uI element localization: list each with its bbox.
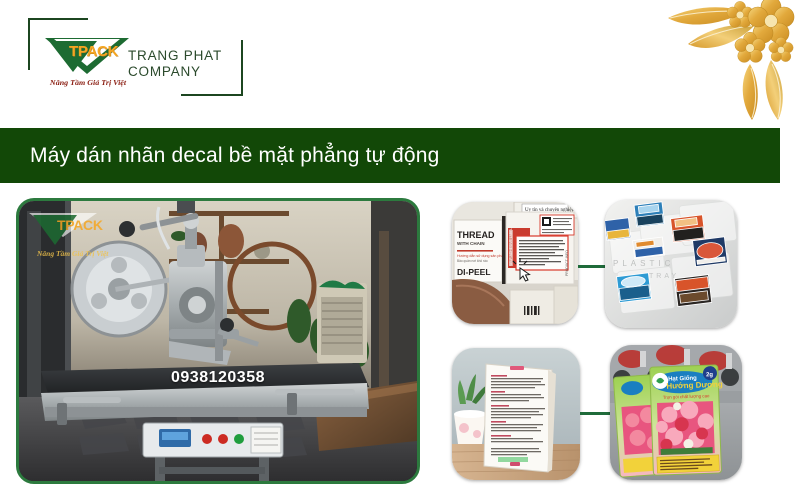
frame-line-right xyxy=(241,40,243,96)
svg-text:2g: 2g xyxy=(706,372,714,378)
page-title-bar: Máy dán nhãn decal bề mặt phẳng tự động xyxy=(0,128,780,183)
connector-line-top xyxy=(578,265,608,268)
gold-apricot-blossom-corner-icon xyxy=(640,0,800,120)
application-photo-seed-packets[interactable]: Hạt Giống Hướng Dương Trọn gói chất lượn… xyxy=(610,345,742,480)
connector-line-bottom xyxy=(580,412,612,415)
svg-text:SELF-ADHESIVE LABEL: SELF-ADHESIVE LABEL xyxy=(509,228,513,266)
page-header: TPACK Nâng Tầm Giá Trị Việt TRANG PHAT C… xyxy=(0,0,800,125)
frame-line-top xyxy=(28,18,88,20)
svg-text:WITH CHAIN: WITH CHAIN xyxy=(457,241,485,246)
svg-text:Hướng dẫn sử dụng sản phẩm: Hướng dẫn sử dụng sản phẩm xyxy=(457,253,506,258)
company-name-line1: TRANG PHAT xyxy=(128,48,222,64)
application-photo-box-with-red-label[interactable]: Uy tín và chuyên nghiệp THREAD WITH CHAI… xyxy=(452,202,578,324)
logo-tagline: Nâng Tầm Giá Trị Việt xyxy=(47,78,129,86)
photo-watermark-logo: TPACK Nâng Tầm Giá Trị Việt xyxy=(33,213,113,261)
frame-line-bottom xyxy=(181,94,243,96)
application-photo-carton-instruction-label[interactable] xyxy=(452,348,580,480)
photo-watermark-wordmark: TPACK xyxy=(57,217,103,233)
frame-line-left xyxy=(28,18,30,70)
main-product-photo[interactable]: TPACK Nâng Tầm Giá Trị Việt 0938120358 xyxy=(16,198,420,484)
company-name: TRANG PHAT COMPANY xyxy=(128,48,222,80)
photo-phone-number: 0938120358 xyxy=(19,369,417,387)
photo-watermark-tagline: Nâng Tầm Giá Trị Việt xyxy=(37,249,108,258)
page-title: Máy dán nhãn decal bề mặt phẳng tự động xyxy=(30,144,439,168)
company-name-line2: COMPANY xyxy=(128,64,222,80)
svg-text:PLASTIC: PLASTIC xyxy=(613,259,674,268)
svg-text:Bảo quản nơi khô ráo: Bảo quản nơi khô ráo xyxy=(457,259,488,263)
svg-text:THREAD: THREAD xyxy=(457,230,495,240)
svg-text:DI-PEEL: DI-PEEL xyxy=(457,267,491,277)
application-photo-blister-tray-packs[interactable]: PLASTIC TRAY xyxy=(605,200,737,328)
logo-wordmark: TPACK xyxy=(69,43,118,60)
tpack-logo[interactable]: TPACK Nâng Tầm Giá Trị Việt xyxy=(45,36,129,94)
svg-text:PRODUCT INFO: PRODUCT INFO xyxy=(565,250,569,276)
